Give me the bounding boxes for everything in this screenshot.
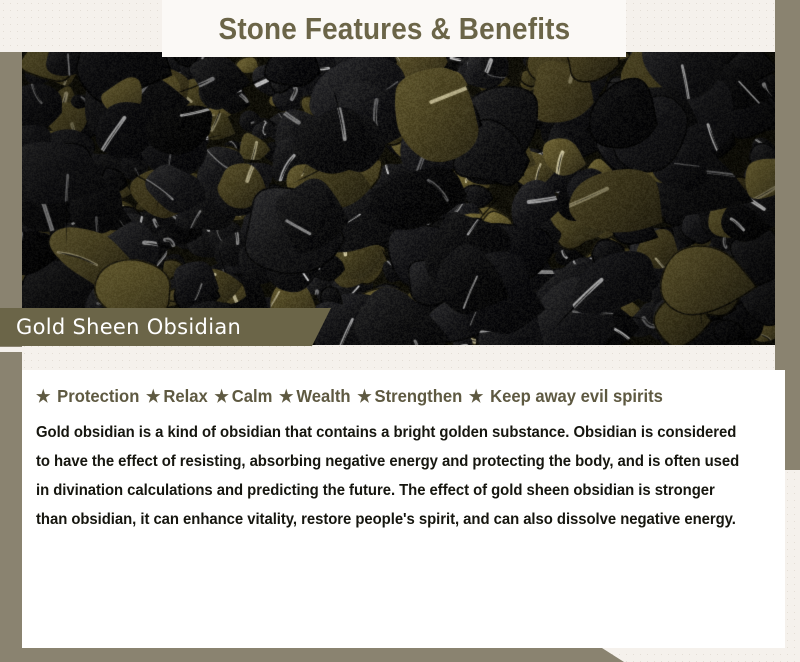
stone-photo	[22, 52, 775, 345]
feature-label: Keep away evil spirits	[490, 386, 663, 406]
stone-name-label: Gold Sheen Obsidian	[16, 315, 241, 339]
stone-photo-canvas	[22, 52, 775, 345]
stone-name-band: Gold Sheen Obsidian	[0, 308, 312, 346]
feature-label: Relax	[163, 386, 207, 406]
star-icon: ★	[469, 387, 483, 406]
feature-label: Protection	[57, 386, 139, 406]
header-title-card: Stone Features & Benefits	[162, 0, 626, 57]
feature-list: ★Protection★Relax★Calm★Wealth★Strengthen…	[36, 386, 663, 407]
star-icon: ★	[357, 387, 371, 406]
feature-label: Wealth	[296, 386, 350, 406]
left-edge-accent-bar-bottom	[0, 352, 22, 650]
feature-label: Strengthen	[375, 386, 463, 406]
star-icon: ★	[279, 387, 293, 406]
left-edge-accent-bar-top	[0, 52, 22, 347]
page-title: Stone Features & Benefits	[218, 11, 570, 47]
star-icon: ★	[214, 387, 228, 406]
bottom-accent-bar	[0, 648, 602, 662]
star-icon: ★	[36, 387, 50, 406]
star-icon: ★	[146, 387, 160, 406]
content-card: ★Protection★Relax★Calm★Wealth★Strengthen…	[22, 370, 785, 648]
stone-description: Gold obsidian is a kind of obsidian that…	[36, 418, 743, 534]
feature-label: Calm	[232, 386, 273, 406]
bottom-accent-bar-diagonal	[602, 648, 624, 662]
